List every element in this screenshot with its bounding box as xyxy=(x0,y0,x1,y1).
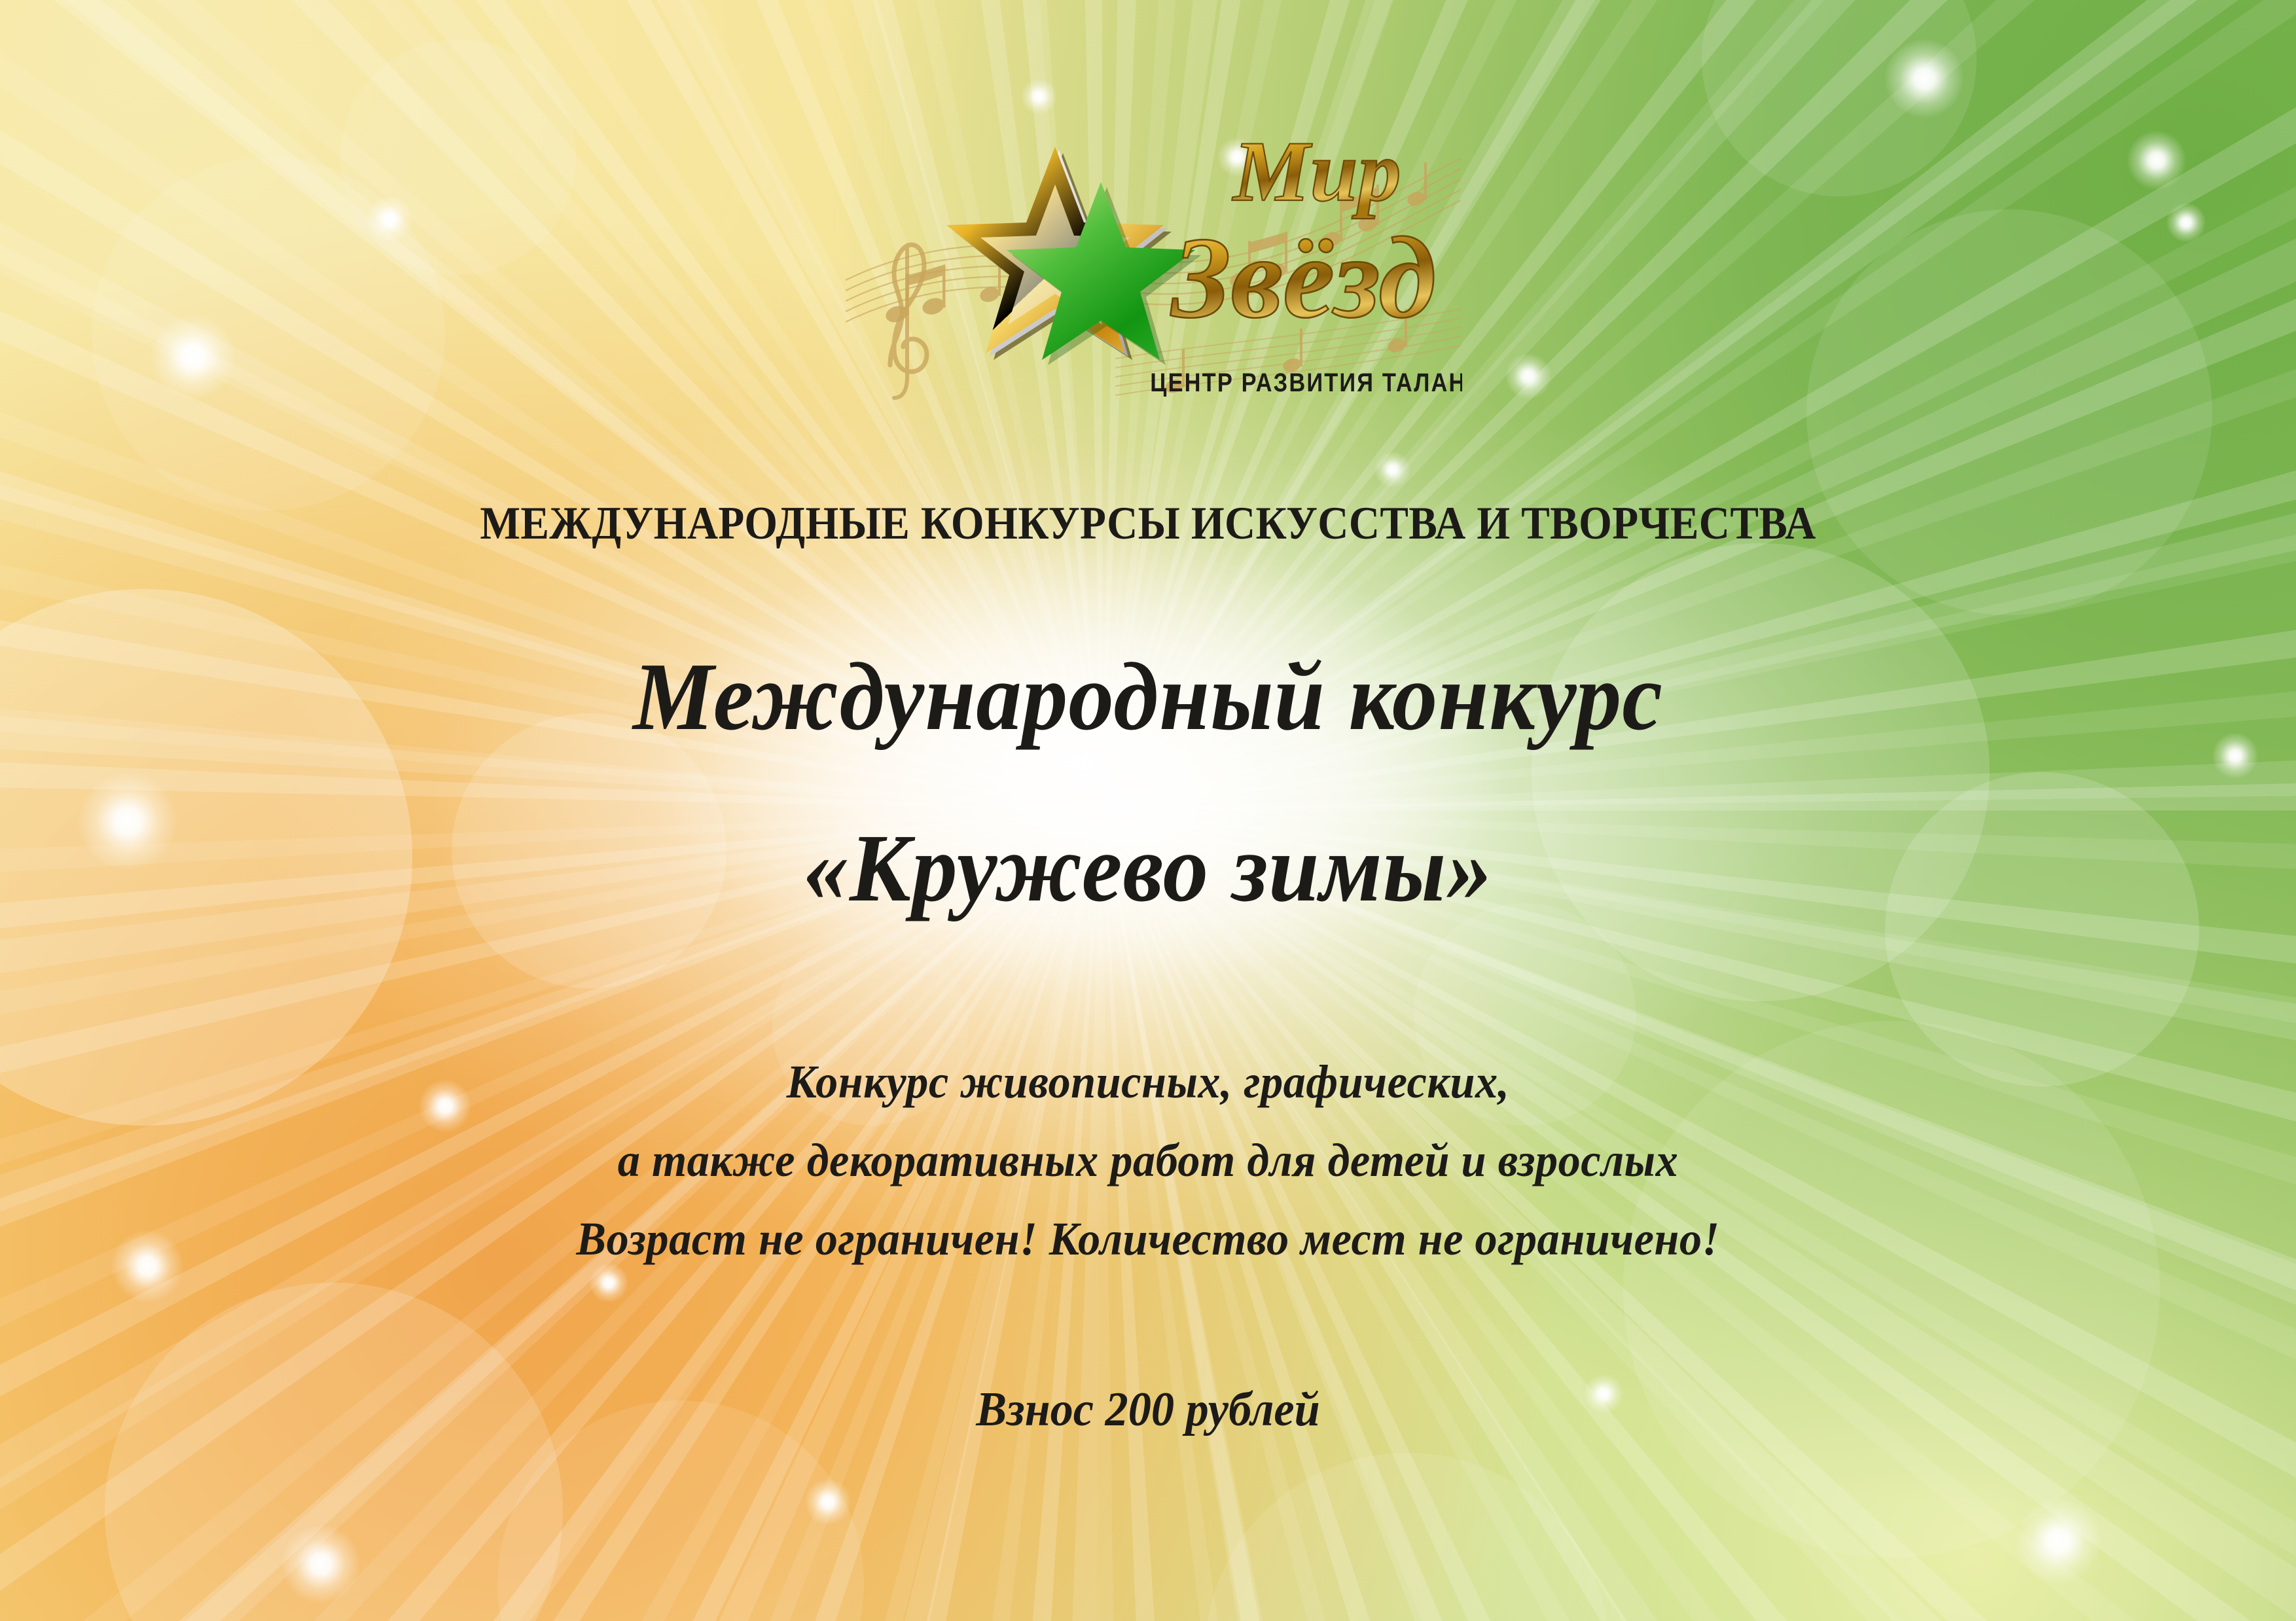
page-title-line-1: Международный конкурс xyxy=(69,641,2227,753)
description-line-1: Конкурс живописных, графических, xyxy=(58,1055,2239,1109)
description-line-3: Возраст не ограничен! Количество мест не… xyxy=(58,1212,2239,1266)
poster-text-content: МЕЖДУНАРОДНЫЕ КОНКУРСЫ ИСКУССТВА И ТВОРЧ… xyxy=(0,0,2296,1621)
description-line-2: а также декоративных работ для детей и в… xyxy=(58,1133,2239,1188)
kicker-heading: МЕЖДУНАРОДНЫЕ КОНКУРСЫ ИСКУССТВА И ТВОРЧ… xyxy=(92,497,2204,550)
poster-canvas: Мир Звёзд ЦЕНТР РАЗВИТИЯ ТАЛАНТОВ МЕЖДУН… xyxy=(0,0,2296,1621)
page-title-line-2: «Кружево зимы» xyxy=(69,813,2227,924)
entry-fee-text: Взнос 200 рублей xyxy=(58,1382,2239,1438)
